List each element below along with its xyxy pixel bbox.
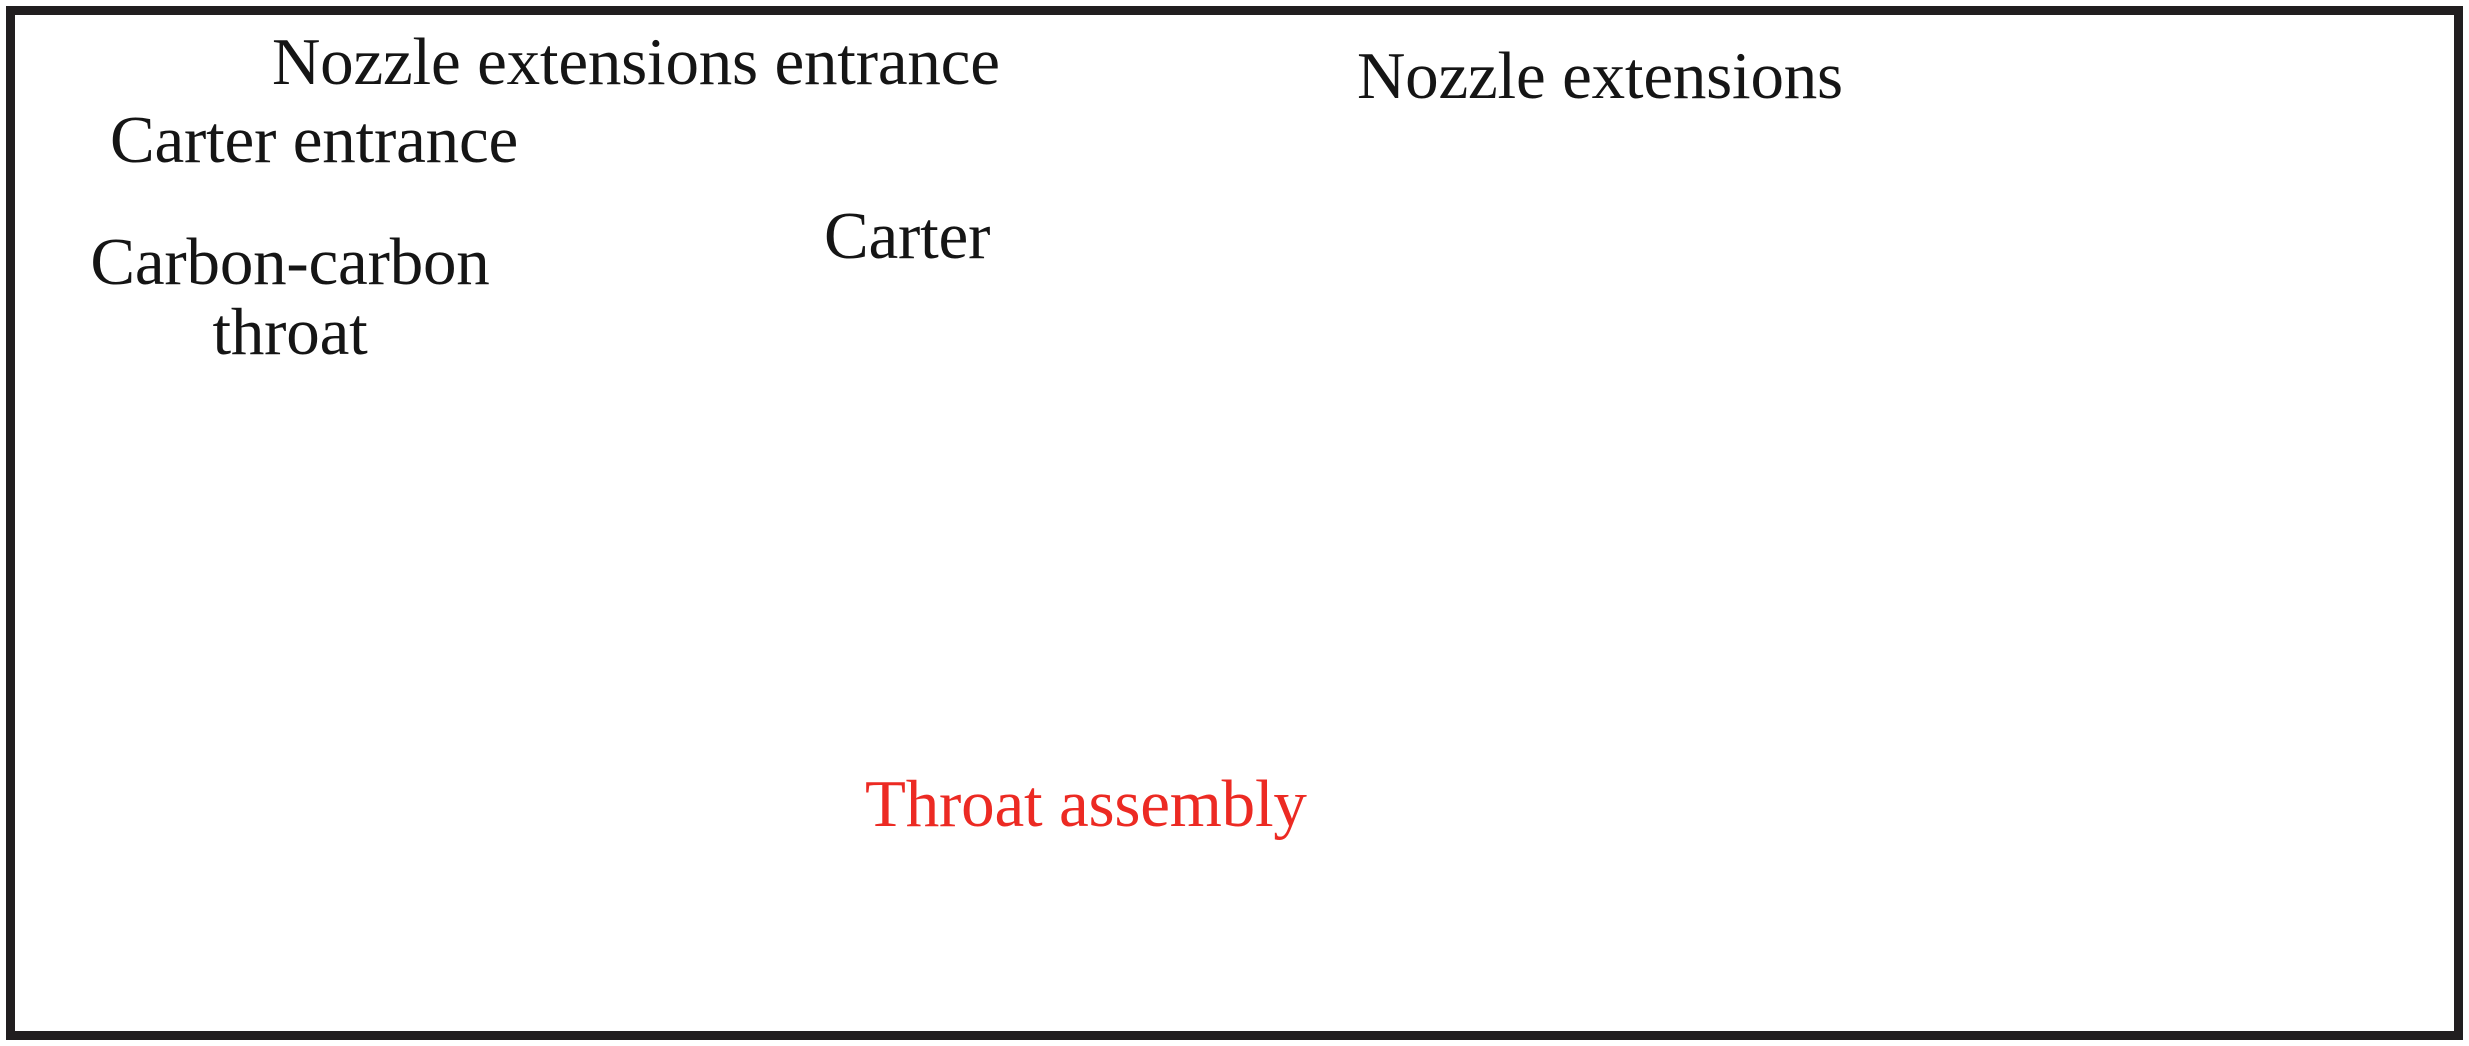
label-carter-entrance: Carter entrance [110, 106, 518, 176]
label-throat-assembly: Throat assembly [865, 770, 1307, 840]
label-carbon-carbon-throat: Carbon-carbon throat [20, 228, 560, 367]
figure-root: Nozzle extensions entrance Carter entran… [0, 0, 2469, 1046]
label-nozzle-extensions-entrance: Nozzle extensions entrance [272, 28, 1000, 98]
label-nozzle-extensions: Nozzle extensions [1357, 42, 1843, 112]
label-carter: Carter [824, 202, 990, 272]
